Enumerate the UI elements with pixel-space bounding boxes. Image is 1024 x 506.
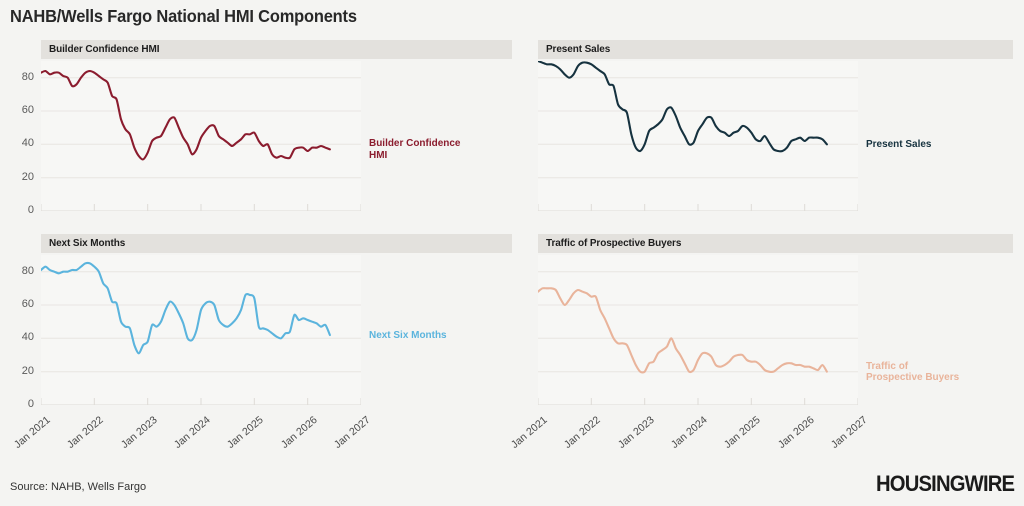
x-axis-tick-label: Jan 2024 (667, 414, 710, 453)
panel-title-bar: Builder Confidence HMI (41, 40, 512, 59)
x-axis-tick-label: Jan 2026 (276, 414, 319, 453)
series-canvas (41, 61, 361, 211)
y-axis-tick-label: 0 (8, 398, 34, 410)
chart-panel: Traffic of Prospective BuyersJan 2021Jan… (538, 234, 1013, 475)
series-label: Next Six Months (369, 330, 447, 342)
plot-area (538, 255, 858, 405)
panel-title-bar: Traffic of Prospective Buyers (538, 234, 1013, 253)
panel-title: Next Six Months (49, 237, 125, 249)
y-axis-tick-label: 60 (8, 298, 34, 310)
y-axis-tick-label: 40 (8, 331, 34, 343)
x-axis-tick-label: Jan 2026 (773, 414, 816, 453)
y-axis-tick-label: 80 (8, 71, 34, 83)
panel-title: Builder Confidence HMI (49, 43, 159, 55)
x-axis-tick-label: Jan 2022 (63, 414, 106, 453)
plot-area (41, 61, 361, 211)
series-label: Traffic ofProspective Buyers (866, 361, 959, 384)
x-axis-tick-label: Jan 2023 (613, 414, 656, 453)
series-canvas (538, 255, 858, 405)
x-axis-tick-label: Jan 2024 (170, 414, 213, 453)
x-axis-tick-label: Jan 2027 (827, 414, 870, 453)
housingwire-logo: HOUSINGWIRE (876, 471, 1014, 497)
plot-area (41, 255, 361, 405)
x-axis-tick-label: Jan 2023 (116, 414, 159, 453)
series-canvas (538, 61, 858, 211)
series-label: Builder ConfidenceHMI (369, 138, 460, 161)
x-axis-tick-label: Jan 2021 (10, 414, 53, 453)
chart-panel: Next Six Months020406080Jan 2021Jan 2022… (41, 234, 512, 475)
y-axis-tick-label: 20 (8, 171, 34, 183)
panel-title: Present Sales (546, 43, 610, 55)
y-axis-tick-label: 0 (8, 204, 34, 216)
page-title: NAHB/Wells Fargo National HMI Components (10, 6, 357, 27)
source-note: Source: NAHB, Wells Fargo (10, 481, 146, 493)
x-axis-tick-label: Jan 2021 (507, 414, 550, 453)
x-axis-tick-label: Jan 2022 (560, 414, 603, 453)
panel-title: Traffic of Prospective Buyers (546, 237, 681, 249)
y-axis-tick-label: 20 (8, 365, 34, 377)
y-axis-tick-label: 40 (8, 137, 34, 149)
panel-title-bar: Present Sales (538, 40, 1013, 59)
y-axis-tick-label: 80 (8, 265, 34, 277)
x-axis-tick-label: Jan 2025 (720, 414, 763, 453)
x-axis-tick-label: Jan 2025 (223, 414, 266, 453)
panel-title-bar: Next Six Months (41, 234, 512, 253)
series-canvas (41, 255, 361, 405)
y-axis-tick-label: 60 (8, 104, 34, 116)
x-axis-tick-label: Jan 2027 (330, 414, 373, 453)
plot-area (538, 61, 858, 211)
series-label: Present Sales (866, 139, 931, 151)
